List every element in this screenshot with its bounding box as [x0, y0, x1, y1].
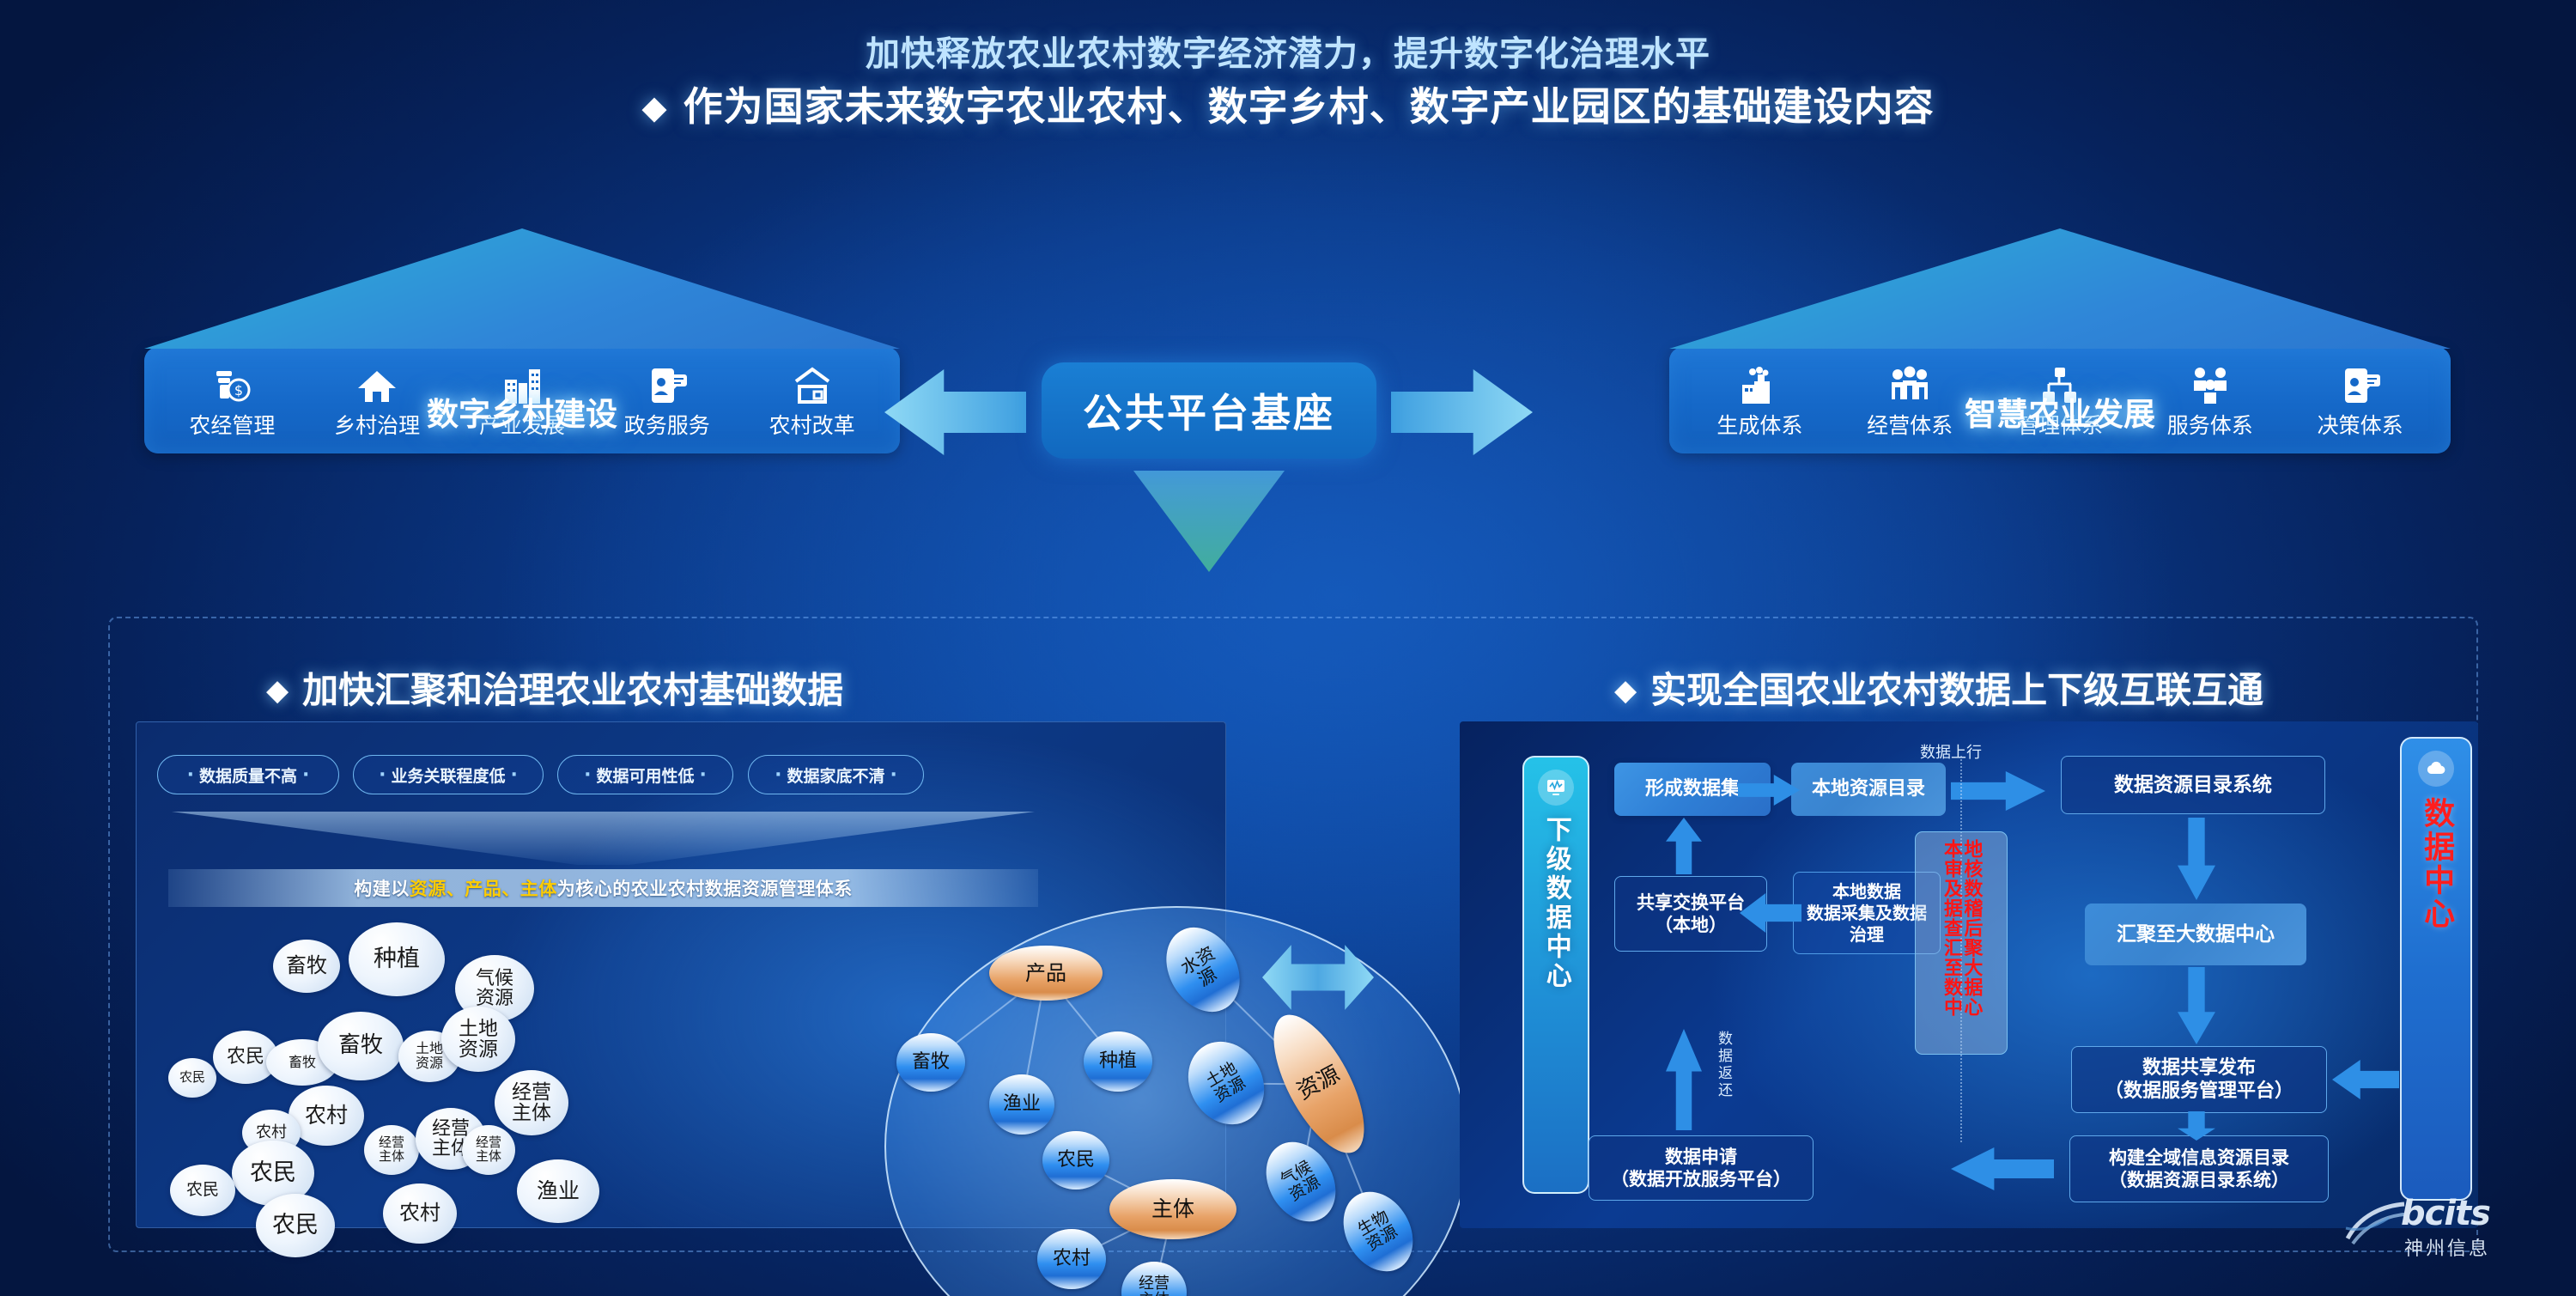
ellipse-node: 产品 [989, 946, 1103, 1001]
scatter-bubble: 农民 [168, 1058, 216, 1098]
scatter-bubble-label: 农民 [250, 1161, 296, 1185]
scatter-bubble: 畜牧 [318, 1012, 404, 1080]
scatter-bubble: 经营主体 [495, 1070, 568, 1135]
scatter-bubble-label: 农村 [399, 1202, 440, 1224]
red-note-box: 本审及据查汇至数中 地核数稽后聚大据心 [1915, 831, 2008, 1055]
ellipse-node: 渔业 [989, 1074, 1054, 1135]
ellipse-node-label: 产品 [1025, 963, 1066, 984]
box-share-platform-label: 共享交换平台 （本地） [1637, 891, 1745, 937]
ellipse-node-label: 畜牧 [912, 1053, 950, 1073]
pyramid-roof [1669, 228, 2451, 349]
page-subtitle: 加快释放农业农村数字经济潜力，提升数字化治理水平 [0, 26, 2576, 76]
red-note-col-right: 地核数稽后聚大据心 [1961, 839, 1981, 1017]
scatter-bubble-label: 经营主体 [378, 1136, 406, 1164]
banner-hl-subject: 主体 [520, 875, 557, 901]
logo-wordmark: bcits [2401, 1194, 2490, 1233]
ellipse-node-label: 种植 [1099, 1052, 1137, 1072]
scatter-bubble: 经营主体 [462, 1125, 515, 1175]
ellipse-node: 土地资源 [1174, 1028, 1279, 1139]
logo-swoosh-icon [2344, 1199, 2408, 1250]
ellipse-node-label: 水资源 [1177, 944, 1229, 995]
box-local-catalog[interactable]: 本地资源目录 [1791, 763, 1946, 816]
box-data-apply[interactable]: 数据申请 （数据开放服务平台） [1589, 1135, 1814, 1201]
box-share-publish[interactable]: 数据共享发布 （数据服务管理平台） [2071, 1046, 2327, 1113]
lower-data-center-bar[interactable]: 下级数据中心 [1522, 756, 1589, 1194]
scatter-bubble-label: 经营主体 [511, 1082, 553, 1123]
ellipse-node: 主体 [1109, 1179, 1236, 1239]
pyramid-roof [144, 228, 900, 349]
data-center-label: 数据中心 [2419, 797, 2453, 931]
box-data-apply-label: 数据申请 （数据开放服务平台） [1611, 1146, 1791, 1191]
scatter-bubble-label: 渔业 [537, 1180, 580, 1202]
scatter-bubble-label: 气候资源 [475, 969, 515, 1008]
box-catalog-system[interactable]: 数据资源目录系统 [2061, 756, 2325, 814]
logo-company-name: 神州信息 [2404, 1233, 2490, 1261]
monitor-pulse-icon [1538, 770, 1574, 806]
scatter-bubble: 农民 [170, 1165, 235, 1216]
ellipse-node-label: 生物资源 [1355, 1208, 1401, 1255]
ellipse-node-label: 主体 [1151, 1198, 1194, 1220]
core-system-banner: 构建以资源、产品、主体为核心的农业农村数据资源管理体系 [168, 869, 1038, 907]
diamond-bullet-icon: ◆ [1614, 673, 1637, 708]
ellipse-node: 畜牧 [896, 1033, 965, 1092]
diamond-bullet-icon: ◆ [266, 673, 289, 708]
scatter-bubble: 农村 [383, 1183, 457, 1244]
problem-pill-2[interactable]: 业务关联程度低 [353, 755, 544, 794]
banner-hl-product: 产品、 [465, 875, 520, 901]
ellipse-node: 种植 [1084, 1031, 1152, 1092]
box-global-catalog[interactable]: 构建全域信息资源目录 （数据资源目录系统） [2069, 1135, 2329, 1202]
arrow-down-icon [1133, 471, 1285, 572]
left-section-title-text: 加快汇聚和治理农业农村基础数据 [302, 669, 843, 711]
arrow-left-icon [884, 369, 1026, 455]
scatter-bubble-label: 经营主体 [475, 1136, 503, 1164]
scatter-bubble-label: 农民 [179, 1071, 205, 1085]
scatter-bubble-label: 农民 [227, 1047, 264, 1067]
pyramid-title-right: 智慧农业发展 [1669, 388, 2451, 435]
scatter-bubble-label: 农民 [272, 1214, 319, 1238]
box-gather-bigdata[interactable]: 汇聚至大数据中心 [2085, 904, 2306, 965]
scatter-bubble-label: 土地资源 [458, 1019, 500, 1060]
page-title: ◆作为国家未来数字农业农村、数字乡村、数字产业园区的基础建设内容 [0, 76, 2576, 132]
box-global-catalog-label: 构建全域信息资源目录 （数据资源目录系统） [2109, 1147, 2289, 1192]
cloud-icon [2418, 751, 2454, 787]
scatter-bubble-label: 土地资源 [415, 1042, 445, 1071]
uplink-label: 数据上行 [1920, 740, 1982, 763]
lower-data-center-label: 下级数据中心 [1541, 816, 1571, 991]
red-note-col-left: 本审及据查汇至数中 [1941, 839, 1961, 1017]
ellipse-node-label: 土地资源 [1203, 1060, 1249, 1106]
banner-prefix: 构建以 [354, 875, 410, 901]
scatter-bubble: 畜牧 [273, 940, 340, 993]
scatter-bubble-label: 农村 [256, 1125, 287, 1141]
arrow-right-icon [1391, 369, 1533, 455]
public-platform-base[interactable]: 公共平台基座 [1042, 362, 1376, 459]
scatter-bubble-label: 农民 [186, 1182, 219, 1199]
scatter-bubble: 渔业 [517, 1159, 599, 1223]
ellipse-node: 经营主体 [1121, 1262, 1187, 1296]
ellipse-nodes: 产品资源主体畜牧渔业种植农民农村经营主体水资源土地资源气候资源生物资源 [884, 906, 1468, 1296]
scatter-bubble-label: 畜牧 [338, 1034, 383, 1057]
ellipse-node-label: 农民 [1057, 1151, 1095, 1171]
ellipse-node: 生物资源 [1329, 1179, 1426, 1284]
scatter-bubble: 种植 [349, 922, 445, 996]
public-platform-base-label: 公共平台基座 [1083, 382, 1335, 439]
problem-pill-3[interactable]: 数据可用性低 [557, 755, 733, 794]
box-share-publish-label: 数据共享发布 （数据服务管理平台） [2105, 1056, 2293, 1104]
problem-pill-4[interactable]: 数据家底不清 [748, 755, 924, 794]
scatter-bubble-label: 农村 [305, 1104, 348, 1127]
slide-canvas: 加快释放农业农村数字经济潜力，提升数字化治理水平 ◆作为国家未来数字农业农村、数… [0, 0, 2576, 1296]
scatter-bubble: 经营主体 [364, 1125, 419, 1175]
return-label: 数据返还 [1713, 1031, 1735, 1099]
right-section-title: ◆实现全国农业农村数据上下级互联互通 [1614, 661, 2263, 714]
right-section-title-text: 实现全国农业农村数据上下级互联互通 [1650, 669, 2263, 711]
pyramid-title-left: 数字乡村建设 [144, 388, 900, 435]
ellipse-node-label: 气候资源 [1278, 1159, 1324, 1205]
scatter-bubble: 农民 [256, 1194, 335, 1257]
company-logo: bcits 神州信息 [2344, 1183, 2542, 1278]
ellipse-node-label: 资源 [1294, 1063, 1345, 1104]
scatter-bubble-label: 畜牧 [286, 955, 327, 977]
scatter-bubble: 土地资源 [441, 1007, 515, 1072]
banner-hl-resource: 资源、 [410, 875, 465, 901]
page-title-text: 作为国家未来数字农业农村、数字乡村、数字产业园区的基础建设内容 [683, 83, 1935, 130]
scatter-bubble-cluster: 农民农民畜牧畜牧种植畜牧土地资源气候资源土地资源经营主体农村农村农民农民农民经营… [153, 910, 634, 1271]
scatter-bubble-label: 种植 [374, 947, 420, 971]
ellipse-node: 农民 [1042, 1131, 1109, 1190]
scatter-bubble-label: 畜牧 [289, 1056, 316, 1070]
ellipse-node-label: 农村 [1053, 1250, 1091, 1269]
ellipse-node: 农村 [1037, 1229, 1106, 1289]
ellipse-node: 水资源 [1151, 914, 1255, 1025]
pyramid-smart-agriculture: 智慧农业发展 生成体系 [1669, 228, 2451, 453]
diamond-bullet-icon: ◆ [641, 88, 667, 126]
left-section-title: ◆加快汇聚和治理农业农村基础数据 [266, 661, 843, 714]
pyramid-digital-village: 数字乡村建设 $ 农经管理 [144, 228, 900, 453]
core-ellipse-cluster: 产品资源主体畜牧渔业种植农民农村经营主体水资源土地资源气候资源生物资源 [884, 906, 1468, 1296]
ellipse-node-label: 渔业 [1003, 1095, 1041, 1115]
ellipse-node-label: 经营主体 [1138, 1276, 1170, 1296]
banner-suffix: 为核心的农业农村数据资源管理体系 [557, 875, 853, 901]
problem-pill-1[interactable]: 数据质量不高 [157, 755, 339, 794]
data-center-bar[interactable]: 数据中心 [2400, 737, 2472, 1201]
